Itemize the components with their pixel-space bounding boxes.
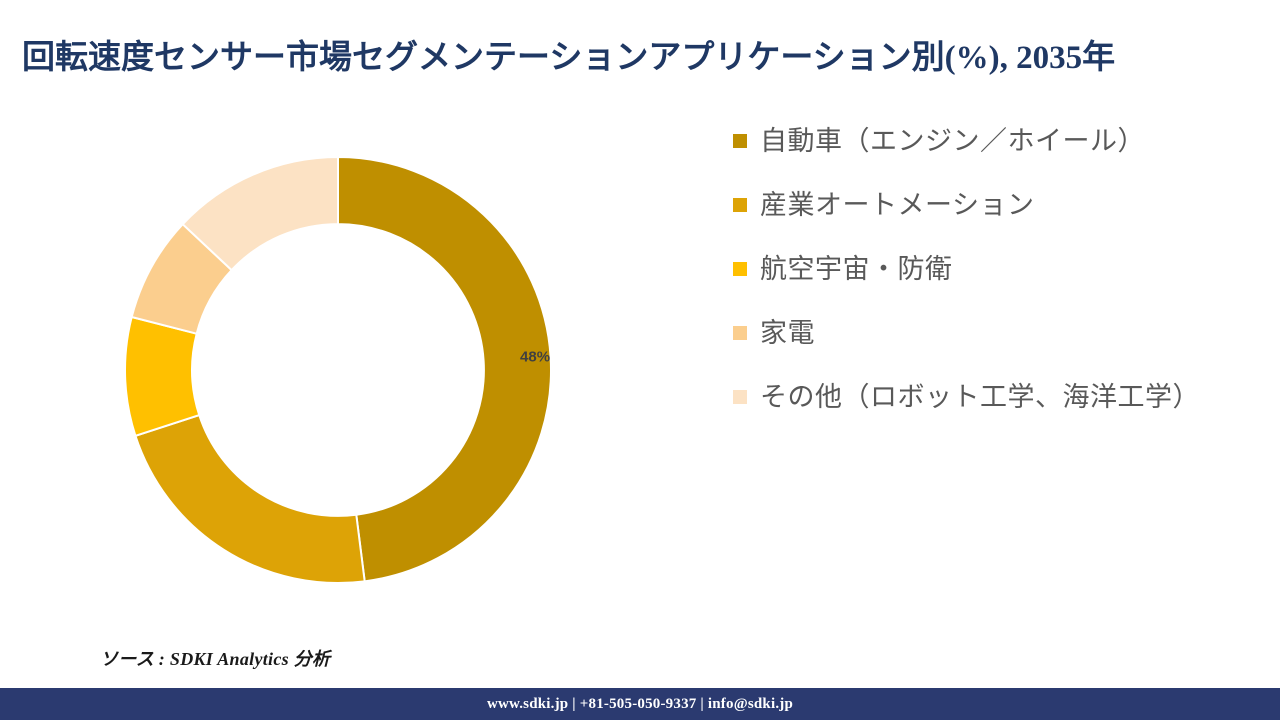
legend-item-automotive[interactable]: 自動車（エンジン／ホイール） xyxy=(733,122,1268,162)
legend-item-label: その他（ロボット工学、海洋工学） xyxy=(760,378,1200,418)
donut-chart-svg: 48% xyxy=(125,157,551,583)
legend-item-label: 産業オートメーション xyxy=(760,186,1034,226)
legend-item-consumer-electronics[interactable]: 家電 xyxy=(733,314,1268,354)
legend-swatch-icon xyxy=(733,390,747,404)
footer-bar: www.sdki.jp | +81-505-050-9337 | info@sd… xyxy=(0,688,1280,720)
page-title: 回転速度センサー市場セグメンテーションアプリケーション別(%), 2035年 xyxy=(22,38,1267,79)
legend-item-industrial-automation[interactable]: 産業オートメーション xyxy=(733,186,1268,226)
donut-slice[interactable] xyxy=(338,157,551,581)
legend-item-label: 航空宇宙・防衛 xyxy=(760,250,953,290)
slice-value-label: 48% xyxy=(520,349,550,366)
legend-item-label: 家電 xyxy=(760,314,815,354)
chart-legend: 自動車（エンジン／ホイール） 産業オートメーション 航空宇宙・防衛 家電 その他… xyxy=(733,122,1268,442)
donut-slice[interactable] xyxy=(135,415,364,583)
donut-chart: 48% xyxy=(125,157,551,583)
legend-item-aerospace-defense[interactable]: 航空宇宙・防衛 xyxy=(733,250,1268,290)
donut-slice[interactable] xyxy=(125,317,199,436)
legend-swatch-icon xyxy=(733,262,747,276)
footer-contact-text: www.sdki.jp | +81-505-050-9337 | info@sd… xyxy=(487,696,793,713)
legend-swatch-icon xyxy=(733,326,747,340)
legend-item-label: 自動車（エンジン／ホイール） xyxy=(760,122,1145,162)
legend-swatch-icon xyxy=(733,134,747,148)
donut-slice-group xyxy=(125,157,551,583)
legend-swatch-icon xyxy=(733,198,747,212)
source-note: ソース : SDKI Analytics 分析 xyxy=(100,645,330,671)
legend-item-others[interactable]: その他（ロボット工学、海洋工学） xyxy=(733,378,1268,418)
